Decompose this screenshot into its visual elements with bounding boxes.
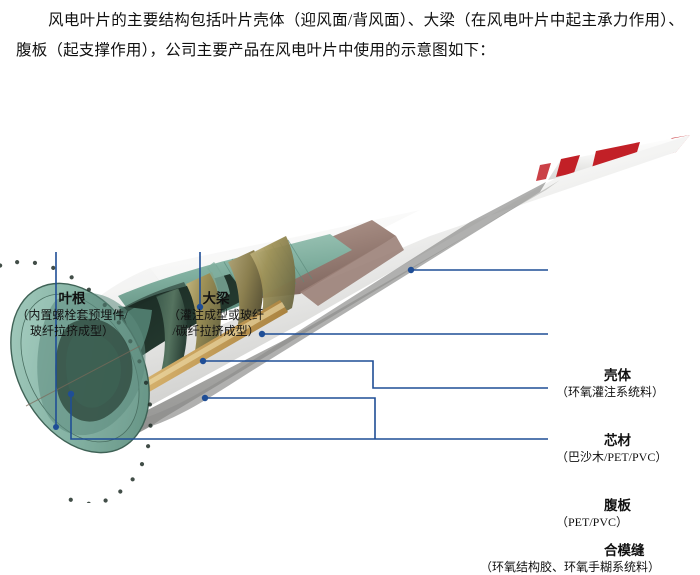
leader-dot-web (200, 358, 206, 364)
label-spar-cap-sub-1: （灌注成型或玻纤 (148, 307, 284, 323)
label-core-material: 芯材 （巴沙木/PET/PVC） (556, 432, 700, 465)
label-shell: 壳体 （环氧灌注系统料） (556, 367, 700, 400)
label-bond-seam-sub-1: （环氧结构胶、环氧手糊系统料） (480, 559, 700, 575)
leader-dot-blade-root (53, 424, 59, 430)
label-spar-cap-title: 大梁 (148, 290, 284, 307)
label-spar-cap-sub-2: /碳纤拉挤成型） (148, 323, 284, 339)
label-shear-web-sub-1: （PET/PVC） (556, 514, 700, 530)
paragraph-text: 风电叶片的主要结构包括叶片壳体（迎风面/背风面）、大梁（在风电叶片中起主承力作用… (16, 12, 684, 59)
label-shear-web: 腹板 （PET/PVC） (556, 497, 700, 530)
label-bond-seam-title: 合模缝 (556, 542, 700, 559)
label-blade-root-title: 叶根 (6, 290, 138, 307)
label-core-material-sub-1: （巴沙木/PET/PVC） (556, 449, 700, 465)
blade-figure: 叶根 （内置螺栓套预埋件/ 玻纤拉挤成型） 大梁 （灌注成型或玻纤 /碳纤拉挤成… (0, 118, 700, 503)
label-shell-title: 壳体 (556, 367, 700, 384)
label-shear-web-title: 腹板 (556, 497, 700, 514)
label-blade-root-sub-1: （内置螺栓套预埋件/ (6, 307, 138, 323)
body-paragraph: 风电叶片的主要结构包括叶片壳体（迎风面/背风面）、大梁（在风电叶片中起主承力作用… (16, 6, 684, 66)
leader-dot-shell (408, 267, 414, 273)
page-root: 风电叶片的主要结构包括叶片壳体（迎风面/背风面）、大梁（在风电叶片中起主承力作用… (0, 0, 700, 503)
leader-seam-upper (205, 398, 375, 439)
leader-dot-seam-upper (202, 395, 208, 401)
label-bond-seam: 合模缝 （环氧结构胶、环氧手糊系统料） (556, 542, 700, 575)
leader-dot-seam-lower (68, 391, 74, 397)
tip-red-band-3 (536, 163, 551, 181)
label-spar-cap: 大梁 （灌注成型或玻纤 /碳纤拉挤成型） (148, 290, 284, 339)
label-core-material-title: 芯材 (556, 432, 700, 449)
label-blade-root: 叶根 （内置螺栓套预埋件/ 玻纤拉挤成型） (6, 290, 138, 339)
label-shell-sub-1: （环氧灌注系统料） (556, 384, 700, 400)
label-blade-root-sub-2: 玻纤拉挤成型） (6, 323, 138, 339)
